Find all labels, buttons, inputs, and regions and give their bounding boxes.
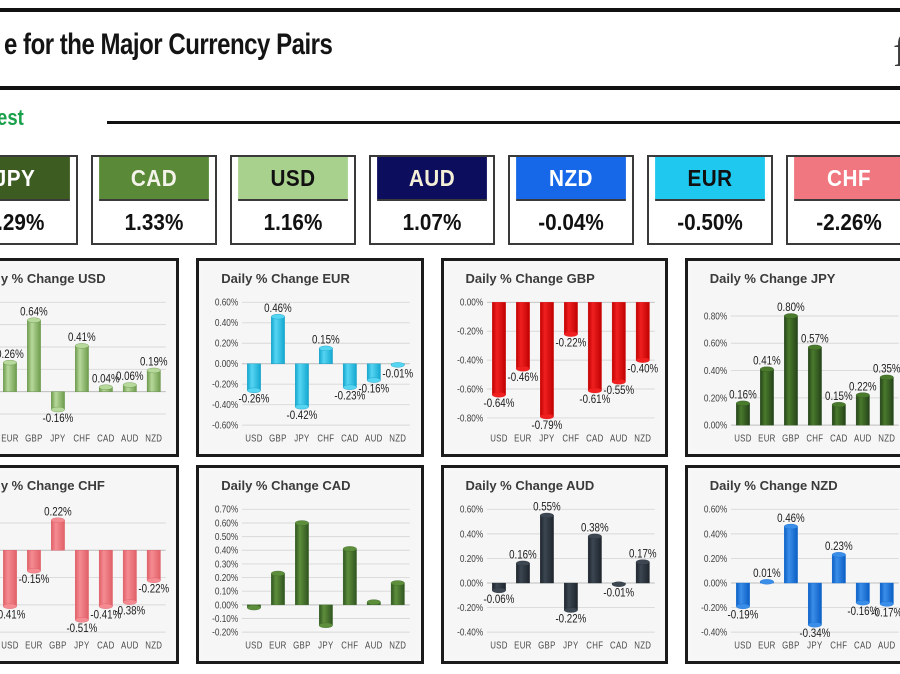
- x-axis-category-label: AUD: [610, 432, 628, 443]
- chart-bar: [832, 402, 845, 425]
- x-axis-category-label: CAD: [341, 432, 359, 443]
- currency-strength-card: JPY2.29%: [0, 155, 78, 245]
- chart-panel: Daily % Change EUR-0.60%-0.40%-0.20%0.00…: [196, 258, 423, 457]
- x-axis-category-label: NZD: [878, 432, 895, 443]
- x-axis-category-label: CHF: [586, 639, 603, 650]
- chart-plot-area: 0.00%0.20%0.40%0.60%0.80%0.16%USD0.41%EU…: [692, 289, 900, 448]
- x-axis-category-label: CAD: [610, 639, 628, 650]
- y-axis-tick-label: 0.00%: [704, 576, 728, 588]
- dashboard-root: e for the Major Currency Pairs fore rong…: [0, 0, 900, 674]
- currency-strength-card: CAD1.33%: [91, 155, 217, 245]
- x-axis-category-label: JPY: [539, 432, 554, 443]
- x-axis-category-label: CHF: [73, 432, 90, 443]
- chart-bar: [856, 583, 869, 605]
- y-axis-tick-label: -0.10%: [212, 612, 239, 624]
- chart-panel-body: Daily % Change EUR-0.60%-0.40%-0.20%0.00…: [203, 265, 416, 450]
- bar-value-label: -0.51%: [66, 622, 97, 635]
- x-axis-category-label: CHF: [562, 432, 579, 443]
- chart-bar: [784, 314, 797, 426]
- currency-strength-value: 1.07%: [377, 199, 487, 243]
- x-axis-category-label: NZD: [145, 432, 162, 443]
- y-axis-tick-label: 0.00%: [704, 419, 728, 431]
- bar-value-label: -0.15%: [18, 573, 49, 586]
- x-axis-category-label: JPY: [807, 639, 822, 650]
- currency-code: NZD: [516, 157, 626, 199]
- bar-value-label: 0.38%: [581, 522, 609, 535]
- currency-code: CAD: [99, 157, 209, 199]
- y-axis-tick-label: 0.20%: [215, 571, 239, 583]
- page-header: e for the Major Currency Pairs fore: [0, 8, 900, 90]
- bar-value-label: -0.26%: [239, 393, 270, 406]
- chart-bar: [271, 314, 284, 364]
- x-axis-category-label: JPY: [74, 639, 89, 650]
- bar-value-label: -0.01%: [383, 367, 414, 380]
- y-axis-tick-label: 0.10%: [215, 585, 239, 597]
- chart-bar: [271, 571, 284, 605]
- bar-value-label: 0.55%: [533, 501, 561, 514]
- page-title: e for the Major Currency Pairs: [4, 28, 332, 62]
- chart-bar: [295, 521, 308, 605]
- bar-value-label: 0.16%: [509, 549, 537, 562]
- chart-bar: [636, 302, 649, 362]
- chart-panel-body: Daily % Change AUD-0.40%-0.20%0.00%0.20%…: [448, 472, 661, 657]
- currency-code: CHF: [794, 157, 900, 199]
- x-axis-category-label: GBP: [293, 639, 311, 650]
- x-axis-category-label: NZD: [634, 432, 651, 443]
- chart-title: Daily % Change CAD: [221, 478, 350, 493]
- chart-plot-area: -0.60%-0.40%-0.20%0.00%0.20%0.40%0.60%-0…: [203, 289, 414, 448]
- bar-value-label: -0.22%: [555, 612, 586, 625]
- chart-bar: [784, 524, 797, 583]
- bar-value-label: 0.46%: [264, 302, 292, 315]
- bar-value-label: 0.19%: [140, 356, 168, 369]
- chart-plot-area: -0.80%-0.60%-0.40%-0.20%0.00%-0.64%USD-0…: [448, 289, 659, 448]
- bar-value-label: -0.64%: [483, 397, 514, 410]
- x-axis-category-label: USD: [245, 432, 263, 443]
- x-axis-category-label: EUR: [758, 432, 776, 443]
- y-axis-tick-label: 0.80%: [704, 309, 728, 321]
- chart-bar: [367, 600, 380, 605]
- bar-value-label: 0.15%: [312, 334, 340, 347]
- x-axis-category-label: NZD: [389, 639, 406, 650]
- chart-bar: [147, 550, 160, 582]
- x-axis-category-label: CAD: [854, 639, 872, 650]
- chart-title: Daily % Change JPY: [710, 271, 836, 286]
- chart-bar: [319, 605, 332, 628]
- bar-value-label: 0.46%: [777, 512, 805, 525]
- bar-value-label: -0.38%: [114, 605, 145, 618]
- y-axis-tick-label: 0.40%: [459, 527, 483, 539]
- chart-bar: [636, 560, 649, 583]
- currency-code: JPY: [0, 157, 70, 199]
- x-axis-category-label: GBP: [49, 639, 67, 650]
- bar-value-label: -0.34%: [799, 627, 830, 640]
- chart-bar: [808, 583, 821, 627]
- x-axis-category-label: CHF: [318, 432, 335, 443]
- x-axis-category-label: GBP: [25, 432, 43, 443]
- chart-bar: [880, 375, 893, 425]
- x-axis-category-label: CAD: [586, 432, 604, 443]
- y-axis-tick-label: 0.60%: [704, 503, 728, 515]
- chart-bar: [588, 302, 601, 393]
- x-axis-category-label: JPY: [294, 432, 309, 443]
- bar-value-label: -0.22%: [555, 336, 586, 349]
- chart-bar: [540, 302, 553, 419]
- chart-bar: [123, 382, 136, 391]
- currency-code: EUR: [655, 157, 765, 199]
- chart-bar: [147, 368, 160, 392]
- chart-bar: [75, 343, 88, 391]
- x-axis-category-label: USD: [734, 639, 752, 650]
- y-axis-tick-label: 0.60%: [215, 516, 239, 528]
- chart-plot-area: -0.20%-0.10%0.00%0.10%0.20%0.30%0.40%0.5…: [203, 496, 414, 655]
- chart-bar: [295, 364, 308, 409]
- bar-value-label: 0.22%: [849, 380, 877, 393]
- y-axis-tick-label: 0.40%: [215, 316, 239, 328]
- chart-panel: Daily % Change CAD-0.20%-0.10%0.00%0.10%…: [196, 465, 423, 664]
- chart-title: Daily % Change USD: [0, 271, 106, 286]
- chart-bar: [3, 550, 16, 608]
- chart-bar: [3, 360, 16, 392]
- chart-panel-body: Daily % Change GBP-0.80%-0.60%-0.40%-0.2…: [448, 265, 661, 450]
- bar-value-label: -0.06%: [483, 593, 514, 606]
- x-axis-category-label: GBP: [782, 432, 800, 443]
- bar-value-label: -0.16%: [359, 382, 390, 395]
- bar-value-label: 0.01%: [753, 567, 781, 580]
- x-axis-category-label: JPY: [563, 639, 578, 650]
- x-axis-category-label: JPY: [50, 432, 65, 443]
- y-axis-tick-label: 0.40%: [704, 364, 728, 376]
- y-axis-tick-label: 0.20%: [215, 337, 239, 349]
- chart-bar: [832, 552, 845, 583]
- chart-grid-row: Daily % Change CHF-0.60%-0.40%-0.20%0.00…: [0, 465, 900, 664]
- chart-grid-row: Daily % Change USD-0.20%0.00%0.20%0.40%0…: [0, 258, 900, 457]
- chart-bar: [736, 401, 749, 425]
- chart-bar: [564, 302, 577, 336]
- x-axis-category-label: AUD: [365, 432, 383, 443]
- chart-bar: [540, 513, 553, 583]
- y-axis-tick-label: -0.40%: [457, 626, 484, 638]
- x-axis-category-label: AUD: [121, 639, 139, 650]
- chart-title: Daily % Change AUD: [466, 478, 595, 493]
- bar-value-label: 0.06%: [116, 370, 144, 383]
- bar-value-label: 0.16%: [729, 389, 757, 402]
- currency-strength-value: 1.16%: [238, 199, 348, 243]
- bar-value-label: 0.26%: [0, 348, 24, 361]
- x-axis-category-label: JPY: [318, 639, 333, 650]
- y-axis-tick-label: 0.40%: [215, 544, 239, 556]
- chart-panel-body: Daily % Change CHF-0.60%-0.40%-0.20%0.00…: [0, 472, 172, 657]
- x-axis-category-label: NZD: [634, 639, 651, 650]
- x-axis-category-label: EUR: [514, 432, 532, 443]
- strongest-label: rongest: [0, 105, 24, 131]
- y-axis-tick-label: -0.40%: [701, 626, 728, 638]
- chart-bar: [808, 345, 821, 425]
- chart-panel-body: Daily % Change NZD-0.40%-0.20%0.00%0.20%…: [692, 472, 900, 657]
- chart-bar: [760, 367, 773, 425]
- currency-strength-card: AUD1.07%: [369, 155, 495, 245]
- x-axis-category-label: EUR: [25, 639, 43, 650]
- bar-value-label: 0.17%: [628, 547, 656, 560]
- y-axis-tick-label: 0.20%: [459, 552, 483, 564]
- x-axis-category-label: GBP: [538, 639, 556, 650]
- y-axis-tick-label: 0.60%: [459, 503, 483, 515]
- chart-panel: Daily % Change NZD-0.40%-0.20%0.00%0.20%…: [685, 465, 900, 664]
- x-axis-category-label: CHF: [830, 639, 847, 650]
- chart-panel-body: Daily % Change USD-0.20%0.00%0.20%0.40%0…: [0, 265, 172, 450]
- chart-bar: [247, 364, 260, 393]
- bar-value-label: -0.17%: [871, 606, 900, 619]
- chart-bar: [343, 546, 356, 604]
- y-axis-tick-label: 0.00%: [215, 598, 239, 610]
- x-axis-category-label: USD: [245, 639, 263, 650]
- y-axis-tick-label: 0.60%: [704, 337, 728, 349]
- chart-bar: [343, 364, 356, 390]
- y-axis-tick-label: 0.50%: [215, 530, 239, 542]
- bar-value-label: -0.46%: [507, 371, 538, 384]
- y-axis-tick-label: 0.20%: [704, 552, 728, 564]
- chart-bar: [564, 583, 577, 612]
- y-axis-tick-label: -0.60%: [457, 382, 484, 394]
- y-axis-tick-label: 0.70%: [215, 503, 239, 515]
- x-axis-category-label: AUD: [878, 639, 896, 650]
- currency-strength-card: EUR-0.50%: [647, 155, 773, 245]
- x-axis-category-label: NZD: [389, 432, 406, 443]
- y-axis-tick-label: -0.80%: [457, 411, 484, 423]
- x-axis-category-label: AUD: [121, 432, 139, 443]
- chart-title: Daily % Change EUR: [221, 271, 350, 286]
- chart-bar: [247, 605, 260, 610]
- chart-bar: [51, 392, 64, 412]
- chart-panel: Daily % Change GBP-0.80%-0.60%-0.40%-0.2…: [441, 258, 668, 457]
- chart-bar: [391, 581, 404, 605]
- x-axis-category-label: CHF: [806, 432, 823, 443]
- x-axis-category-label: CAD: [830, 432, 848, 443]
- currency-code: USD: [238, 157, 348, 199]
- bar-value-label: 0.41%: [753, 354, 781, 367]
- bar-value-label: -0.01%: [603, 587, 634, 600]
- bar-value-label: -0.42%: [287, 409, 318, 422]
- x-axis-category-label: USD: [490, 432, 508, 443]
- x-axis-category-label: GBP: [269, 432, 287, 443]
- currency-strength-value: 1.33%: [99, 199, 209, 243]
- chart-plot-area: -0.40%-0.20%0.00%0.20%0.40%0.60%-0.19%US…: [692, 496, 900, 655]
- chart-panel-body: Daily % Change CAD-0.20%-0.10%0.00%0.10%…: [203, 472, 416, 657]
- x-axis-category-label: EUR: [514, 639, 532, 650]
- chart-panel: Daily % Change CHF-0.60%-0.40%-0.20%0.00…: [0, 465, 179, 664]
- currency-strength-card: CHF-2.26%: [786, 155, 900, 245]
- bar-value-label: -0.22%: [138, 583, 169, 596]
- bar-value-label: -0.19%: [727, 609, 758, 622]
- y-axis-tick-label: -0.20%: [457, 601, 484, 613]
- chart-bar: [51, 518, 64, 550]
- x-axis-category-label: CAD: [97, 432, 115, 443]
- chart-plot-area: -0.60%-0.40%-0.20%0.00%0.20%-0.41%USD-0.…: [0, 496, 170, 655]
- y-axis-tick-label: 0.00%: [215, 357, 239, 369]
- chart-plot-area: -0.20%0.00%0.20%0.40%0.60%0.80%0.26%EUR0…: [0, 289, 170, 448]
- x-axis-category-label: NZD: [145, 639, 162, 650]
- x-axis-category-label: EUR: [1, 432, 19, 443]
- chart-panel: Daily % Change AUD-0.40%-0.20%0.00%0.20%…: [441, 465, 668, 664]
- chart-bar: [27, 550, 40, 573]
- chart-bar: [319, 346, 332, 364]
- x-axis-category-label: GBP: [782, 639, 800, 650]
- bar-value-label: -0.40%: [627, 363, 658, 376]
- chart-bar: [99, 550, 112, 608]
- chart-title: Daily % Change GBP: [466, 271, 595, 286]
- strength-legend-bar: rongest: [0, 104, 900, 138]
- chart-bar: [880, 583, 893, 606]
- bar-value-label: 0.57%: [801, 333, 829, 346]
- y-axis-tick-label: 0.00%: [459, 576, 483, 588]
- x-axis-category-label: EUR: [758, 639, 776, 650]
- y-axis-tick-label: 0.00%: [459, 296, 483, 308]
- chart-panel-body: Daily % Change JPY0.00%0.20%0.40%0.60%0.…: [692, 265, 900, 450]
- chart-bar: [75, 550, 88, 622]
- y-axis-tick-label: -0.20%: [457, 325, 484, 337]
- currency-code: AUD: [377, 157, 487, 199]
- bar-value-label: 0.22%: [44, 505, 72, 518]
- chart-bar: [588, 534, 601, 583]
- bar-value-label: 0.35%: [873, 363, 900, 376]
- x-axis-category-label: AUD: [854, 432, 872, 443]
- currency-strength-card: USD1.16%: [230, 155, 356, 245]
- bar-value-label: -0.79%: [531, 419, 562, 432]
- x-axis-category-label: USD: [1, 639, 19, 650]
- x-axis-category-label: CHF: [342, 639, 359, 650]
- y-axis-tick-label: -0.60%: [212, 419, 239, 431]
- chart-panel: Daily % Change USD-0.20%0.00%0.20%0.40%0…: [0, 258, 179, 457]
- currency-strength-value: -0.04%: [516, 199, 626, 243]
- chart-bar: [516, 302, 529, 371]
- y-axis-tick-label: -0.20%: [701, 601, 728, 613]
- y-axis-tick-label: 0.40%: [704, 527, 728, 539]
- y-axis-tick-label: 0.60%: [215, 296, 239, 308]
- header-divider: [107, 121, 900, 124]
- chart-bar: [516, 561, 529, 583]
- chart-bar: [612, 302, 625, 384]
- bar-value-label: 0.41%: [68, 331, 96, 344]
- y-axis-tick-label: 0.20%: [704, 391, 728, 403]
- chart-bar: [367, 364, 380, 383]
- y-axis-tick-label: 0.30%: [215, 557, 239, 569]
- chart-bar: [123, 550, 136, 604]
- y-axis-tick-label: -0.20%: [212, 378, 239, 390]
- chart-bar: [736, 583, 749, 609]
- bar-value-label: 0.23%: [825, 540, 853, 553]
- x-axis-category-label: USD: [490, 639, 508, 650]
- chart-bar: [27, 318, 40, 392]
- x-axis-category-label: USD: [734, 432, 752, 443]
- bar-value-label: -0.16%: [42, 412, 73, 425]
- currency-strength-value: -2.26%: [794, 199, 900, 243]
- chart-title: Daily % Change NZD: [710, 478, 838, 493]
- currency-strength-row: JPY2.29%CAD1.33%USD1.16%AUD1.07%NZD-0.04…: [0, 155, 900, 245]
- chart-grid: Daily % Change USD-0.20%0.00%0.20%0.40%0…: [0, 258, 900, 672]
- bar-value-label: -0.41%: [0, 609, 25, 622]
- y-axis-tick-label: -0.20%: [212, 626, 239, 638]
- x-axis-category-label: CAD: [97, 639, 115, 650]
- currency-strength-value: 2.29%: [0, 199, 70, 243]
- brand-logo: fore: [893, 24, 900, 77]
- currency-strength-value: -0.50%: [655, 199, 765, 243]
- chart-bar: [856, 393, 869, 425]
- y-axis-tick-label: -0.40%: [212, 398, 239, 410]
- currency-strength-card: NZD-0.04%: [508, 155, 634, 245]
- chart-bar: [492, 583, 505, 593]
- chart-bar: [492, 302, 505, 397]
- chart-panel: Daily % Change JPY0.00%0.20%0.40%0.60%0.…: [685, 258, 900, 457]
- bar-value-label: 0.64%: [20, 305, 48, 318]
- chart-plot-area: -0.40%-0.20%0.00%0.20%0.40%0.60%-0.06%US…: [448, 496, 659, 655]
- y-axis-tick-label: -0.40%: [457, 354, 484, 366]
- bar-value-label: 0.80%: [777, 301, 805, 314]
- chart-title: Daily % Change CHF: [0, 478, 105, 493]
- x-axis-category-label: EUR: [269, 639, 287, 650]
- bar-value-label: -0.55%: [603, 384, 634, 397]
- x-axis-category-label: AUD: [365, 639, 383, 650]
